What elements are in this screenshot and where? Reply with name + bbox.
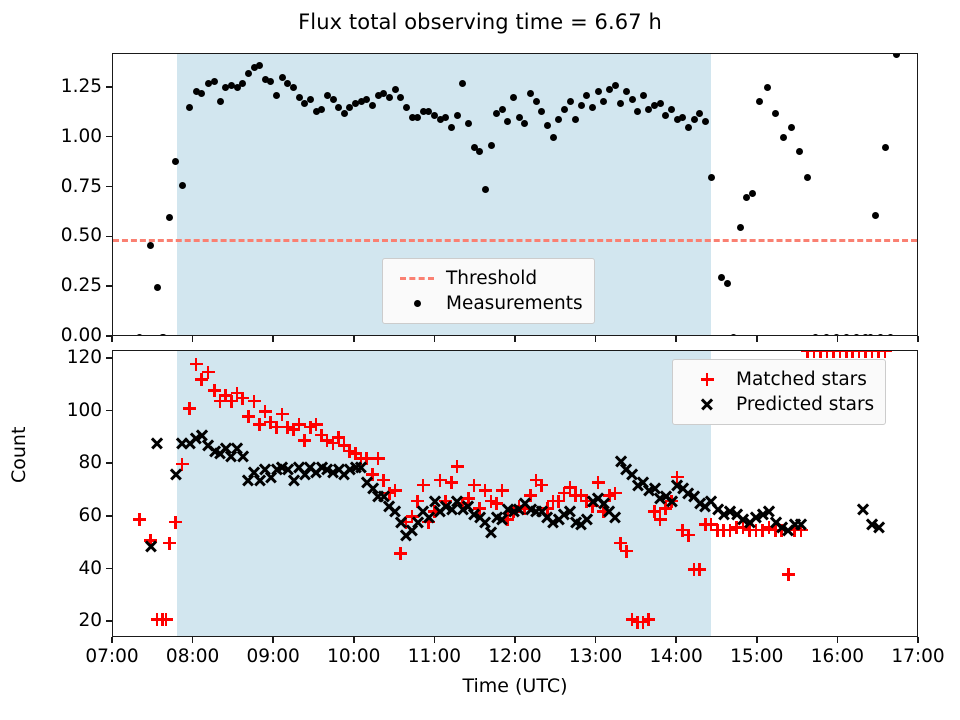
y-tick-label: 80 (36, 452, 102, 473)
matched-star-point (782, 568, 795, 581)
measurement-point (872, 212, 879, 219)
measurement-point (482, 186, 489, 193)
plus-marker-icon (684, 373, 730, 386)
bottom-panel-legend: Matched stars Predicted stars (672, 359, 886, 425)
x-tick-mark-top (272, 336, 274, 342)
matched-star-point (394, 547, 407, 560)
predicted-star-point (355, 460, 368, 473)
x-tick-mark-top (595, 336, 597, 342)
predicted-star-point (151, 437, 164, 450)
measurement-point (843, 334, 850, 337)
matched-star-point (190, 358, 203, 371)
y-tick-label: 0.50 (36, 225, 102, 246)
matched-star-point (451, 460, 464, 473)
matched-star-point (202, 366, 215, 379)
x-tick-mark-top (837, 336, 839, 342)
predicted-star-point (485, 526, 498, 539)
x-tick-mark-top (111, 336, 113, 342)
y-tick-mark (106, 620, 112, 622)
measurement-point (877, 334, 884, 337)
figure-title: Flux total observing time = 6.67 h (0, 10, 960, 34)
legend-item-threshold: Threshold (394, 266, 583, 291)
measurement-point (730, 334, 737, 337)
x-tick-mark-top (192, 336, 194, 342)
measurement-point (166, 214, 173, 221)
measurement-point (217, 98, 224, 105)
predicted-star-point (665, 495, 678, 508)
predicted-star-point (580, 513, 593, 526)
measurement-point (853, 334, 860, 337)
measurement-point (136, 334, 143, 337)
measurement-point (454, 112, 461, 119)
matched-star-point (160, 613, 173, 626)
measurement-point (823, 334, 830, 337)
matched-star-point (183, 402, 196, 415)
measurement-point (788, 124, 795, 131)
measurement-point (154, 284, 161, 291)
y-tick-mark (106, 136, 112, 138)
matched-star-point (445, 476, 458, 489)
dashed-line-icon (394, 277, 440, 280)
y-tick-mark (106, 568, 112, 570)
y-tick-mark (106, 410, 112, 412)
measurement-point (749, 190, 756, 197)
threshold-line (113, 239, 917, 242)
measurement-point (567, 98, 574, 105)
matched-star-point (298, 434, 311, 447)
measurement-point (612, 82, 619, 89)
y-tick-label: 100 (36, 400, 102, 421)
x-tick-mark (111, 637, 113, 643)
y-tick-label: 0.00 (36, 325, 102, 346)
matched-star-point (642, 613, 655, 626)
bottom-panel-y-axis-label: Count (8, 426, 30, 482)
measurement-point (160, 334, 167, 337)
y-tick-mark (106, 462, 112, 464)
x-tick-mark-top (917, 336, 919, 342)
measurement-point (147, 242, 154, 249)
dot-marker-icon (394, 300, 440, 307)
matched-star-point (276, 408, 289, 421)
x-tick-mark (756, 637, 758, 643)
legend-label-matched-stars: Matched stars (730, 369, 867, 390)
legend-item-measurements: Measurements (394, 291, 583, 316)
measurement-point (804, 174, 811, 181)
legend-label-threshold: Threshold (440, 268, 537, 289)
x-tick-mark (514, 637, 516, 643)
y-tick-mark (106, 186, 112, 188)
measurement-point (772, 110, 779, 117)
legend-item-predicted-stars: Predicted stars (684, 392, 874, 417)
y-tick-label: 1.00 (36, 126, 102, 147)
x-tick-mark (272, 637, 274, 643)
measurement-point (724, 280, 731, 287)
cross-marker-icon (684, 398, 730, 411)
predicted-star-point (795, 518, 808, 531)
y-tick-label: 0.75 (36, 176, 102, 197)
y-tick-mark (106, 236, 112, 238)
x-tick-mark (675, 637, 677, 643)
y-tick-label: 1.25 (36, 76, 102, 97)
predicted-star-point (236, 450, 249, 463)
measurement-point (893, 53, 900, 58)
y-tick-label: 0.25 (36, 275, 102, 296)
predicted-star-point (872, 521, 885, 534)
matched-star-point (535, 479, 548, 492)
x-tick-mark (353, 637, 355, 643)
matched-star-point (417, 479, 430, 492)
matched-star-point (389, 484, 402, 497)
matched-star-point (609, 487, 622, 500)
matched-star-point (169, 516, 182, 529)
matched-star-point (592, 476, 605, 489)
legend-label-measurements: Measurements (440, 293, 583, 314)
measurement-point (796, 148, 803, 155)
measurement-point (887, 334, 894, 337)
matched-star-point (879, 350, 892, 358)
matched-star-point (620, 545, 633, 558)
measurement-point (867, 334, 874, 337)
predicted-star-point (609, 510, 622, 523)
measurement-point (780, 134, 787, 141)
measurement-point (533, 98, 540, 105)
y-tick-mark (106, 515, 112, 517)
x-tick-mark-top (756, 336, 758, 342)
matched-star-point (693, 563, 706, 576)
measurement-point (737, 224, 744, 231)
measurement-point (330, 96, 337, 103)
figure-root: Flux total observing time = 6.67 h 0.000… (0, 0, 960, 720)
x-tick-mark (192, 637, 194, 643)
measurement-point (488, 142, 495, 149)
y-tick-mark (106, 357, 112, 359)
measurement-point (882, 144, 889, 151)
measurement-point (691, 116, 698, 123)
x-tick-mark (434, 637, 436, 643)
matched-star-point (496, 484, 509, 497)
measurement-point (179, 182, 186, 189)
measurement-point (629, 96, 636, 103)
matched-star-point (133, 513, 146, 526)
legend-item-matched-stars: Matched stars (684, 367, 874, 392)
x-axis-label: Time (UTC) (462, 675, 567, 697)
y-tick-mark (106, 285, 112, 287)
y-tick-label: 40 (36, 558, 102, 579)
x-tick-label: 17:00 (858, 646, 960, 667)
matched-star-point (372, 452, 385, 465)
measurement-point (550, 134, 557, 141)
matched-star-point (163, 537, 176, 550)
matched-star-point (682, 529, 695, 542)
y-tick-mark (106, 86, 112, 88)
y-tick-label: 120 (36, 347, 102, 368)
x-tick-mark-top (675, 336, 677, 342)
y-tick-label: 20 (36, 610, 102, 631)
y-tick-label: 60 (36, 505, 102, 526)
x-tick-mark (917, 637, 919, 643)
top-panel-legend: Threshold Measurements (382, 258, 595, 324)
measurement-point (812, 334, 819, 337)
predicted-star-point (144, 539, 157, 552)
predicted-star-point (169, 468, 182, 481)
predicted-star-point (856, 502, 869, 515)
legend-label-predicted-stars: Predicted stars (730, 394, 874, 415)
measurement-point (764, 84, 771, 91)
measurement-point (708, 174, 715, 181)
measurement-point (718, 274, 725, 281)
x-tick-mark-top (434, 336, 436, 342)
x-tick-mark-top (514, 336, 516, 342)
measurement-point (756, 98, 763, 105)
x-tick-mark-top (353, 336, 355, 342)
x-tick-mark (595, 637, 597, 643)
x-tick-mark (837, 637, 839, 643)
measurement-point (392, 86, 399, 93)
